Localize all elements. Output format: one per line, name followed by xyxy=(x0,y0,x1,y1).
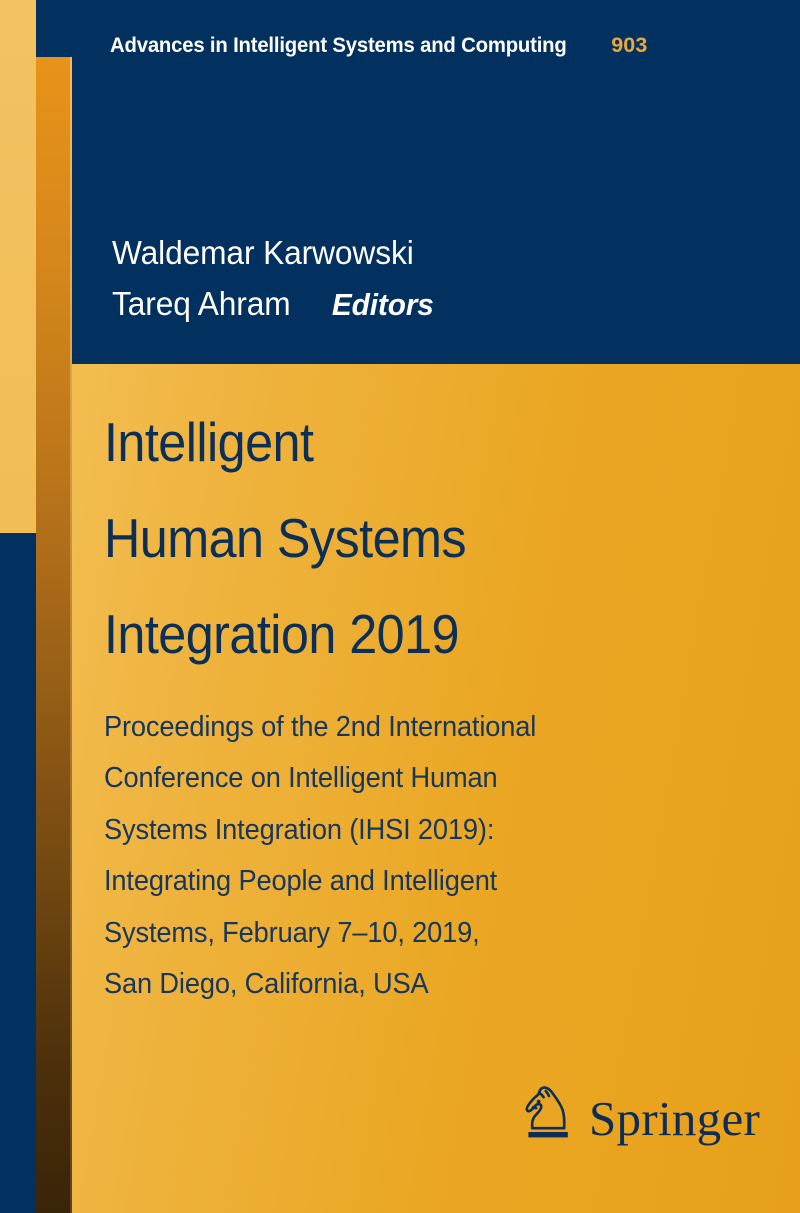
book-title: Intelligent Human Systems Integration 20… xyxy=(104,395,704,683)
book-title-line-1: Intelligent xyxy=(104,395,653,491)
book-subtitle-line-3: Systems Integration (IHSI 2019): xyxy=(104,805,706,856)
editors-block: Waldemar Karwowski Tareq Ahram Editors xyxy=(112,228,447,330)
publisher-logo: Springer xyxy=(519,1083,760,1145)
springer-wordmark: Springer xyxy=(589,1094,760,1143)
book-subtitle: Proceedings of the 2nd International Con… xyxy=(104,702,734,1011)
series-title: Advances in Intelligent Systems and Comp… xyxy=(110,33,567,58)
editor-name-2-row: Tareq Ahram Editors xyxy=(112,279,434,330)
orange-accent-band-highlight xyxy=(70,57,72,1213)
editors-role-label: Editors xyxy=(332,287,434,322)
book-title-line-3: Integration 2019 xyxy=(104,587,653,683)
book-subtitle-line-4: Integrating People and Intelligent xyxy=(104,856,706,907)
left-gold-band-top xyxy=(0,0,36,533)
book-subtitle-line-1: Proceedings of the 2nd International xyxy=(104,702,706,753)
editor-name-2: Tareq Ahram xyxy=(112,285,291,322)
springer-knight-icon xyxy=(519,1083,575,1145)
series-volume-number: 903 xyxy=(611,33,647,58)
orange-accent-band xyxy=(36,57,72,1213)
series-line: Advances in Intelligent Systems and Comp… xyxy=(110,33,647,58)
book-subtitle-line-6: San Diego, California, USA xyxy=(104,959,706,1010)
book-subtitle-line-2: Conference on Intelligent Human xyxy=(104,753,706,804)
book-subtitle-line-5: Systems, February 7–10, 2019, xyxy=(104,908,706,959)
book-cover: Advances in Intelligent Systems and Comp… xyxy=(0,0,800,1213)
book-title-line-2: Human Systems xyxy=(104,491,653,587)
left-navy-band-bottom xyxy=(0,533,36,1213)
editor-name-1: Waldemar Karwowski xyxy=(112,228,434,279)
